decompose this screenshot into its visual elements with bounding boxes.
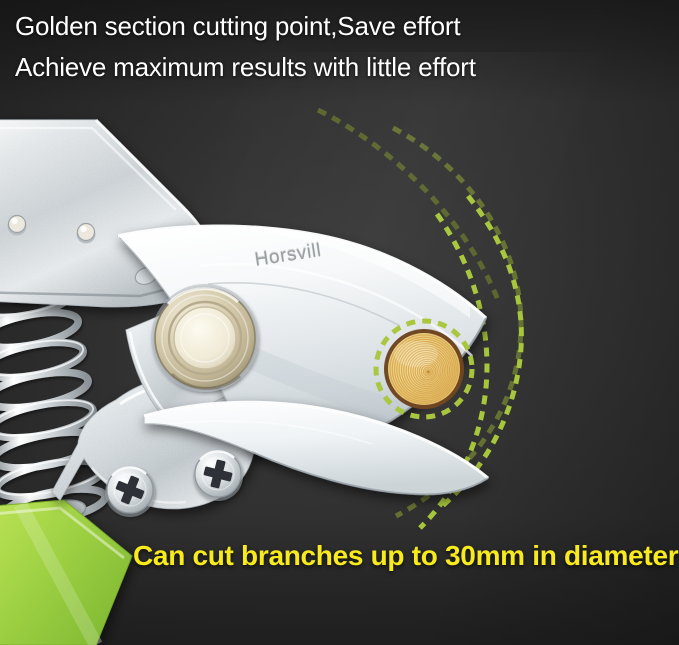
pivot-bolt bbox=[151, 284, 259, 392]
phillips-screw-left bbox=[105, 467, 155, 517]
headline-line-2: Achieve maximum results with little effo… bbox=[15, 52, 476, 83]
lower-handle-green-grip[interactable] bbox=[0, 500, 132, 645]
rivet-upper-left bbox=[8, 216, 27, 236]
phillips-screw-right bbox=[193, 451, 243, 501]
headline-line-1: Golden section cutting point,Save effort bbox=[15, 11, 460, 42]
rivet-upper-right bbox=[77, 224, 96, 244]
footer-caption: Can cut branches up to 30mm in diameter bbox=[133, 540, 678, 572]
product-image-canvas: Golden section cutting point,Save effort… bbox=[0, 0, 679, 645]
